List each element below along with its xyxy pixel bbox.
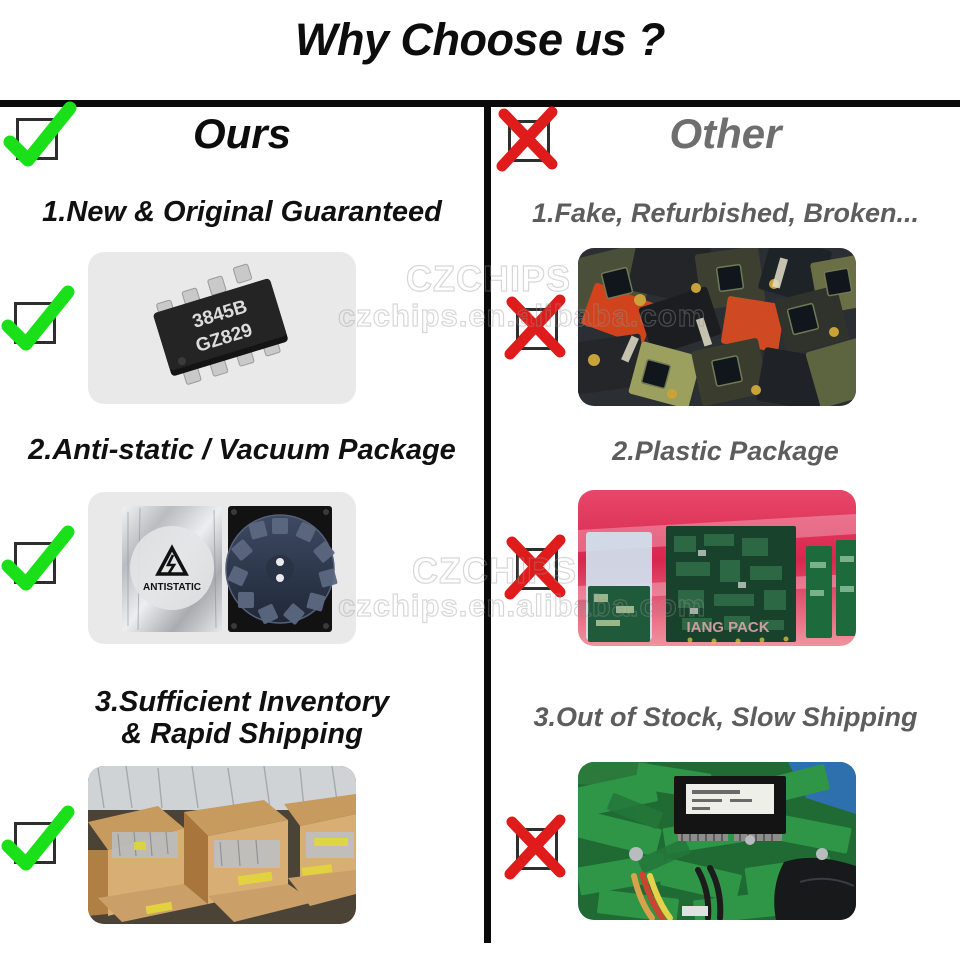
chip-illustration: 3845B GZ829 [88, 252, 356, 404]
why-choose-us-poster: Why Choose us ? Ours Other 1.New & Origi… [0, 0, 960, 960]
item-heading-ours-3: 3.Sufficient Inventory & Rapid Shipping [0, 686, 484, 751]
cross-mark-row-2 [508, 538, 570, 600]
check-icon [0, 804, 76, 882]
stock-boxes-illustration [88, 766, 356, 924]
item-heading-ours-1: 1.New & Original Guaranteed [0, 196, 484, 228]
photo-ours-3 [88, 766, 356, 924]
photo-ours-2: ANTISTATIC [88, 492, 356, 644]
page-title: Why Choose us ? [0, 14, 960, 66]
plastic-package-illustration: IANG PACK [578, 490, 856, 646]
photo-other-2: IANG PACK [578, 490, 856, 646]
photo-ours-1: 3845B GZ829 [88, 252, 356, 404]
check-icon [0, 284, 76, 362]
scrap-boards-illustration [578, 762, 856, 920]
cross-icon [500, 530, 578, 608]
check-icon [0, 100, 78, 178]
cross-mark-header [500, 110, 562, 172]
item-heading-other-2: 2.Plastic Package [491, 436, 960, 466]
check-icon [0, 524, 76, 602]
item-heading-other-3: 3.Out of Stock, Slow Shipping [491, 702, 960, 732]
check-mark-row-3 [6, 812, 68, 874]
check-mark-row-2 [6, 532, 68, 594]
column-divider [484, 107, 491, 943]
check-mark-header [8, 108, 70, 170]
scrap-chips-illustration [578, 248, 856, 406]
check-mark-row-1 [6, 292, 68, 354]
header-divider [0, 100, 960, 107]
cross-icon [500, 290, 578, 368]
svg-text:IANG PACK: IANG PACK [686, 619, 769, 636]
cross-icon [500, 810, 578, 888]
photo-other-3 [578, 762, 856, 920]
photo-other-1 [578, 248, 856, 406]
svg-text:ANTISTATIC: ANTISTATIC [143, 582, 201, 593]
cross-icon [492, 102, 570, 180]
cross-mark-row-3 [508, 818, 570, 880]
item-heading-other-1: 1.Fake, Refurbished, Broken... [491, 198, 960, 228]
antistatic-package-illustration: ANTISTATIC [88, 492, 356, 644]
cross-mark-row-1 [508, 298, 570, 360]
item-heading-ours-2: 2.Anti-static / Vacuum Package [0, 434, 484, 466]
